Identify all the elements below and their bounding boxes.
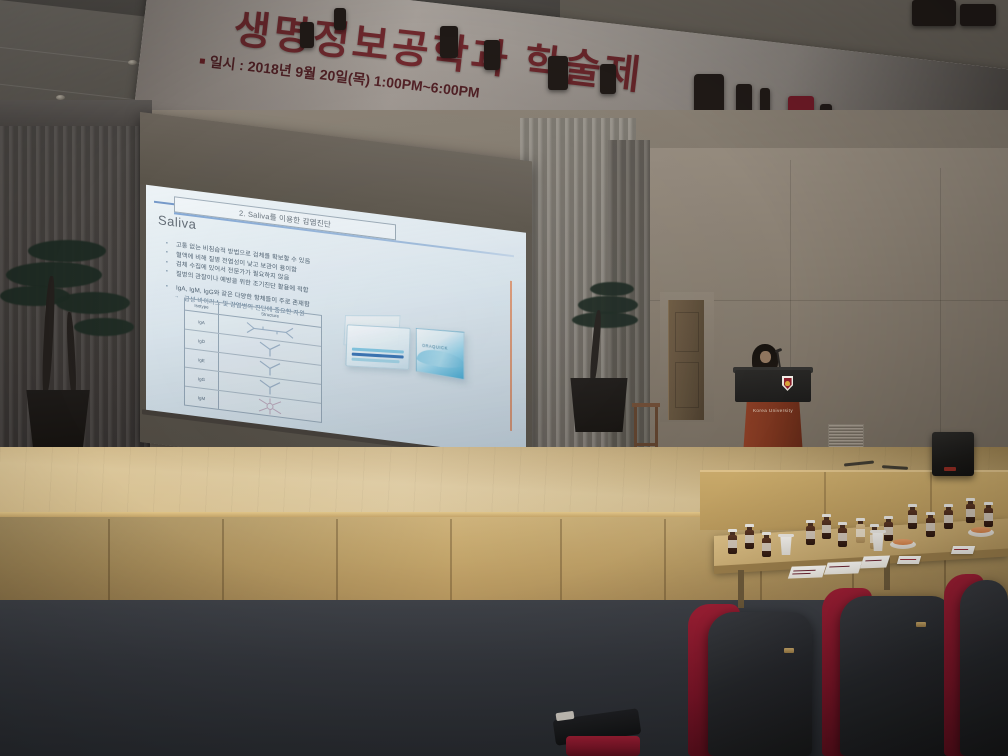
bottle-label xyxy=(838,533,847,541)
curtain-valance xyxy=(0,100,152,126)
beverage-bottle xyxy=(984,502,993,527)
name-card xyxy=(951,546,975,554)
beverage-bottle xyxy=(745,524,754,549)
hanging-fixture xyxy=(912,0,956,26)
bottle-label xyxy=(762,543,771,551)
podium-institution-label: Korea University xyxy=(742,408,804,413)
seat-back xyxy=(960,580,1008,756)
antibody-isotype-table: Isotype Structure IgA xyxy=(184,298,322,423)
bottle-body xyxy=(745,530,754,549)
slide-title-dash xyxy=(154,201,174,206)
bottle-body xyxy=(856,524,865,543)
bottle-body xyxy=(838,528,847,547)
beverage-bottle xyxy=(806,520,815,545)
box-wave-graphic xyxy=(417,348,464,371)
ige-monomer-icon xyxy=(257,359,283,378)
beverage-bottle xyxy=(838,522,847,547)
paper-text xyxy=(793,570,816,572)
foliage xyxy=(572,312,638,328)
bottle-body xyxy=(762,538,771,557)
beverage-bottle xyxy=(728,529,737,554)
igm-pentamer-icon xyxy=(256,396,284,418)
foliage xyxy=(56,292,130,314)
ceiling-light-icon xyxy=(128,60,137,65)
test-kit-open-case xyxy=(345,324,410,370)
bottle-label xyxy=(908,515,917,523)
hanging-speaker xyxy=(484,40,500,70)
slide-accent-line xyxy=(510,281,512,431)
bottle-label xyxy=(856,529,865,537)
food-items xyxy=(893,539,913,545)
beverage-bottle xyxy=(966,498,975,523)
planter-pot xyxy=(22,390,94,452)
bottle-label xyxy=(822,525,831,533)
bottle-body xyxy=(728,535,737,554)
podium-top xyxy=(735,370,811,402)
paper-text xyxy=(829,566,850,568)
bottle-label xyxy=(966,509,975,517)
cup-lid xyxy=(870,530,886,533)
wall-air-vent xyxy=(828,424,864,448)
foliage xyxy=(590,282,634,296)
beverage-bottle xyxy=(908,504,917,529)
isotype-label: IgM xyxy=(185,387,219,409)
bottle-label xyxy=(944,515,953,523)
kit-strip xyxy=(352,358,400,364)
bottle-body xyxy=(822,520,831,539)
beverage-bottle xyxy=(884,516,893,541)
bottle-label xyxy=(984,513,993,521)
bottle-body xyxy=(908,510,917,529)
igg-monomer-icon xyxy=(257,378,283,397)
side-table-shelf xyxy=(634,443,658,446)
bottle-body xyxy=(966,504,975,523)
bottle-body xyxy=(944,510,953,529)
hanging-speaker xyxy=(440,26,458,58)
seat-back xyxy=(840,596,952,756)
speaker-brand-badge xyxy=(944,467,956,471)
stage-door[interactable] xyxy=(668,300,704,420)
handout-paper xyxy=(788,565,826,578)
bottle-label xyxy=(806,531,815,539)
hanging-speaker xyxy=(548,56,568,90)
beverage-bottle xyxy=(822,514,831,539)
bottle-body xyxy=(926,518,935,537)
hanging-fixture xyxy=(300,22,314,48)
door-panel xyxy=(675,312,699,352)
igd-monomer-icon xyxy=(257,340,283,359)
seat-back xyxy=(708,612,812,756)
planter-pot xyxy=(568,378,630,432)
pa-loudspeaker xyxy=(932,432,974,476)
paper-text xyxy=(865,560,882,562)
crest-emblem xyxy=(785,381,790,386)
beverage-bottle xyxy=(856,518,865,543)
door-panel xyxy=(675,362,699,408)
name-card-text xyxy=(900,559,916,560)
bottle-label xyxy=(728,540,737,548)
projection-screen: 2. Saliva를 이용한 감염진단 Saliva 고통 없는 비침습적 방법… xyxy=(140,112,532,492)
bottle-label xyxy=(926,523,935,531)
test-kit-box: ORAQUICK xyxy=(416,328,465,380)
handout-paper xyxy=(860,556,890,569)
hanging-fixture xyxy=(960,4,996,26)
foliage xyxy=(28,240,106,262)
handout-paper xyxy=(824,561,862,574)
hanging-fixture xyxy=(334,8,346,30)
bottle-body xyxy=(984,508,993,527)
name-card xyxy=(897,556,921,564)
cup-lid xyxy=(778,534,794,537)
seat-trim xyxy=(566,736,640,756)
bottle-label xyxy=(745,535,754,543)
name-card-text xyxy=(954,549,968,550)
food-items xyxy=(971,527,991,533)
table-leg xyxy=(738,570,744,608)
foliage xyxy=(74,318,134,336)
hanging-fixture xyxy=(600,64,616,94)
paper-text xyxy=(792,573,811,575)
presenter-face xyxy=(760,351,771,363)
beverage-bottle xyxy=(944,504,953,529)
seat-number-plate xyxy=(916,622,926,627)
seat-number-plate xyxy=(784,648,794,653)
auditorium-scene: 생명정보공학과 학술제 일시 : 2018년 9월 20일(목) 1:00PM~… xyxy=(0,0,1008,756)
beverage-bottle xyxy=(762,532,771,557)
beverage-bottle xyxy=(926,512,935,537)
bottle-body xyxy=(806,526,815,545)
